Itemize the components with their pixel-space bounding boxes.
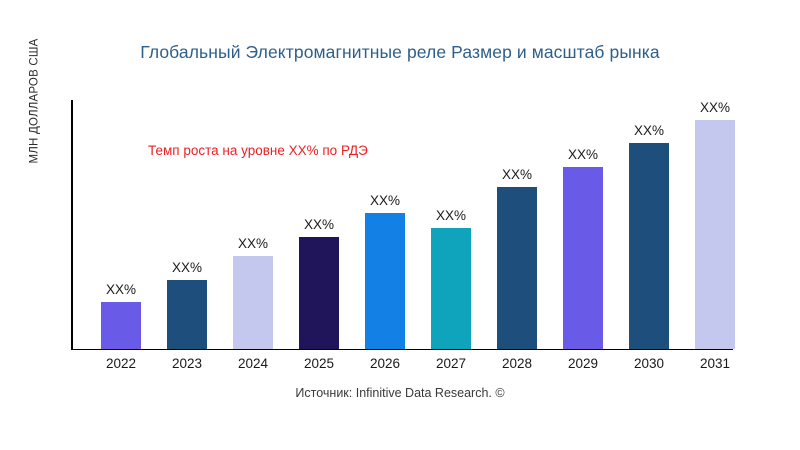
bar[interactable] <box>695 120 735 349</box>
bar[interactable] <box>629 143 669 349</box>
x-tick-label: 2026 <box>355 356 415 371</box>
bar-group[interactable]: XX% <box>233 256 273 349</box>
bar[interactable] <box>431 228 471 349</box>
y-axis-spine <box>71 100 73 350</box>
bar[interactable] <box>563 167 603 349</box>
chart-title: Глобальный Электромагнитные реле Размер … <box>0 42 800 63</box>
bar[interactable] <box>299 237 339 349</box>
bar-value-label: XX% <box>304 217 334 232</box>
bar[interactable] <box>167 280 207 349</box>
bar-group[interactable]: XX% <box>167 280 207 349</box>
x-tick-label: 2028 <box>487 356 547 371</box>
bar-group[interactable]: XX% <box>497 187 537 349</box>
bar-group[interactable]: XX% <box>695 120 735 349</box>
bar-group[interactable]: XX% <box>299 237 339 349</box>
x-tick-label: 2024 <box>223 356 283 371</box>
source-note: Источник: Infinitive Data Research. © <box>0 386 800 400</box>
bar-value-label: XX% <box>436 208 466 223</box>
growth-rate-annotation: Темп роста на уровне XX% по РДЭ <box>148 143 368 158</box>
bar-group[interactable]: XX% <box>101 302 141 349</box>
bar-value-label: XX% <box>700 100 730 115</box>
x-tick-label: 2023 <box>157 356 217 371</box>
x-tick-label: 2022 <box>91 356 151 371</box>
bar-value-label: XX% <box>634 123 664 138</box>
plot-area: XX% XX% XX% XX% XX% XX% XX% XX% <box>71 100 733 350</box>
x-tick-label: 2030 <box>619 356 679 371</box>
x-axis-spine <box>71 349 733 351</box>
bar-group[interactable]: XX% <box>431 228 471 349</box>
y-axis-label: МЛН ДОЛЛАРОВ США <box>23 95 45 335</box>
y-axis-label-text: МЛН ДОЛЛАРОВ США <box>28 39 40 164</box>
bar-value-label: XX% <box>502 167 532 182</box>
bar-group[interactable]: XX% <box>563 167 603 349</box>
x-tick-label: 2025 <box>289 356 349 371</box>
bar-value-label: XX% <box>568 147 598 162</box>
bar[interactable] <box>233 256 273 349</box>
bar-value-label: XX% <box>172 260 202 275</box>
chart-container: Глобальный Электромагнитные реле Размер … <box>0 0 800 450</box>
x-tick-label: 2031 <box>685 356 745 371</box>
bar-value-label: XX% <box>370 193 400 208</box>
bar[interactable] <box>365 213 405 349</box>
x-tick-label: 2027 <box>421 356 481 371</box>
bar[interactable] <box>497 187 537 349</box>
x-tick-label: 2029 <box>553 356 613 371</box>
bar-group[interactable]: XX% <box>365 213 405 349</box>
bar-value-label: XX% <box>106 282 136 297</box>
bar[interactable] <box>101 302 141 349</box>
bar-group[interactable]: XX% <box>629 143 669 349</box>
bar-value-label: XX% <box>238 236 268 251</box>
